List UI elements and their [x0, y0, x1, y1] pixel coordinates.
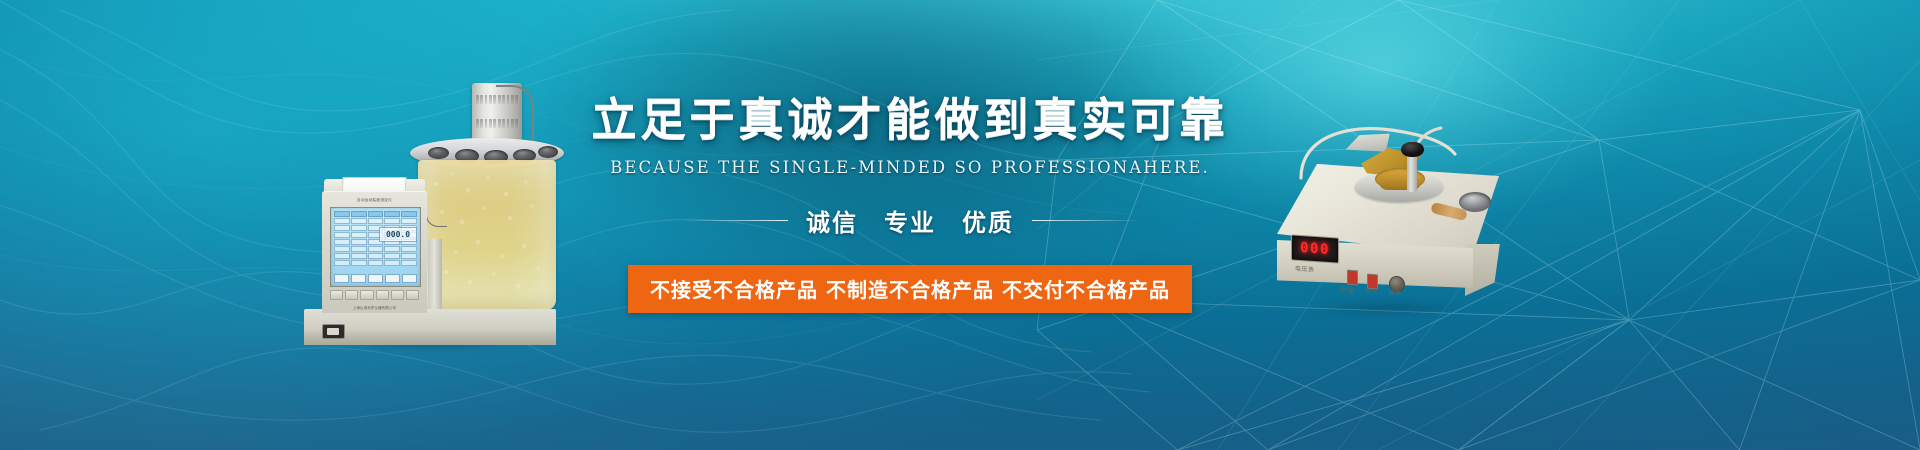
- spare-cup-well: [1459, 192, 1491, 212]
- sample-port: [538, 146, 558, 158]
- controller-housing: 自动运动粘度测定仪 000.0: [322, 191, 427, 313]
- headline-text: 立足于真诚才能做到真实可靠: [565, 96, 1255, 145]
- keypad-button[interactable]: [406, 290, 419, 300]
- keyword-integrity: 诚信: [806, 203, 858, 238]
- lcd-table-grid: [334, 211, 417, 283]
- keypad-row[interactable]: [330, 290, 419, 300]
- keyword-row: 诚信 专业 优质: [565, 203, 1255, 238]
- sample-port: [428, 147, 449, 159]
- voltmeter-digits: 000: [1300, 240, 1330, 258]
- lcd-softkey-row[interactable]: [334, 274, 417, 283]
- keypad-button[interactable]: [360, 290, 373, 300]
- quality-slogan-text: 不接受不合格产品 不制造不合格产品 不交付不合格产品: [650, 278, 1170, 302]
- instrument-shadow: [1273, 301, 1498, 315]
- power-switch[interactable]: [322, 324, 345, 339]
- lcd-softkey[interactable]: [368, 274, 383, 283]
- lcd-softkey[interactable]: [402, 274, 417, 283]
- voltmeter-label: 电压表: [1295, 263, 1315, 273]
- viscometer-instrument: 自动运动粘度测定仪 000.0: [300, 55, 560, 345]
- lcd-softkey[interactable]: [351, 274, 366, 283]
- quality-slogan-bar: 不接受不合格产品 不制造不合格产品 不交付不合格产品: [628, 265, 1192, 313]
- keypad-button[interactable]: [391, 290, 404, 300]
- bath-support-column: [428, 239, 442, 313]
- stirrer-shaft: [1407, 154, 1417, 192]
- control-label-ignite: 点火: [1365, 286, 1378, 296]
- brass-test-cup: [1375, 168, 1425, 190]
- lcd-softkey[interactable]: [334, 274, 349, 283]
- banner-copy: 立足于真诚才能做到真实可靠 BECAUSE THE SINGLE-MINDED …: [565, 96, 1255, 313]
- keypad-button[interactable]: [330, 290, 343, 300]
- keypad-button[interactable]: [345, 290, 358, 300]
- lcd-display[interactable]: 000.0: [330, 207, 421, 287]
- lcd-softkey[interactable]: [385, 274, 400, 283]
- keyword-professional: 专业: [884, 203, 936, 238]
- divider-rule-right: [1032, 220, 1136, 221]
- manufacturer-label: 上海仪电科学仪器有限公司: [322, 305, 427, 310]
- flash-point-tester-instrument: 000 电压表 升温 点火 搅拌: [1255, 120, 1520, 310]
- divider-rule-left: [684, 220, 788, 221]
- control-label-stir: 搅拌: [1389, 287, 1402, 297]
- controller-brand-label: 自动运动粘度测定仪: [322, 198, 427, 203]
- control-label-heat: 升温: [1341, 284, 1354, 294]
- keyword-group: 诚信 专业 优质: [806, 203, 1014, 238]
- keyword-quality: 优质: [962, 203, 1014, 238]
- voltmeter-display: 000: [1291, 234, 1339, 263]
- keypad-button[interactable]: [376, 290, 389, 300]
- subheadline-text: BECAUSE THE SINGLE-MINDED SO PROFESSIONA…: [565, 158, 1255, 177]
- stirrer-knob[interactable]: [1401, 142, 1424, 157]
- heater-switch[interactable]: [1347, 270, 1358, 286]
- promo-banner: 自动运动粘度测定仪 000.0: [0, 0, 1920, 450]
- temperature-readout: 000.0: [379, 227, 417, 242]
